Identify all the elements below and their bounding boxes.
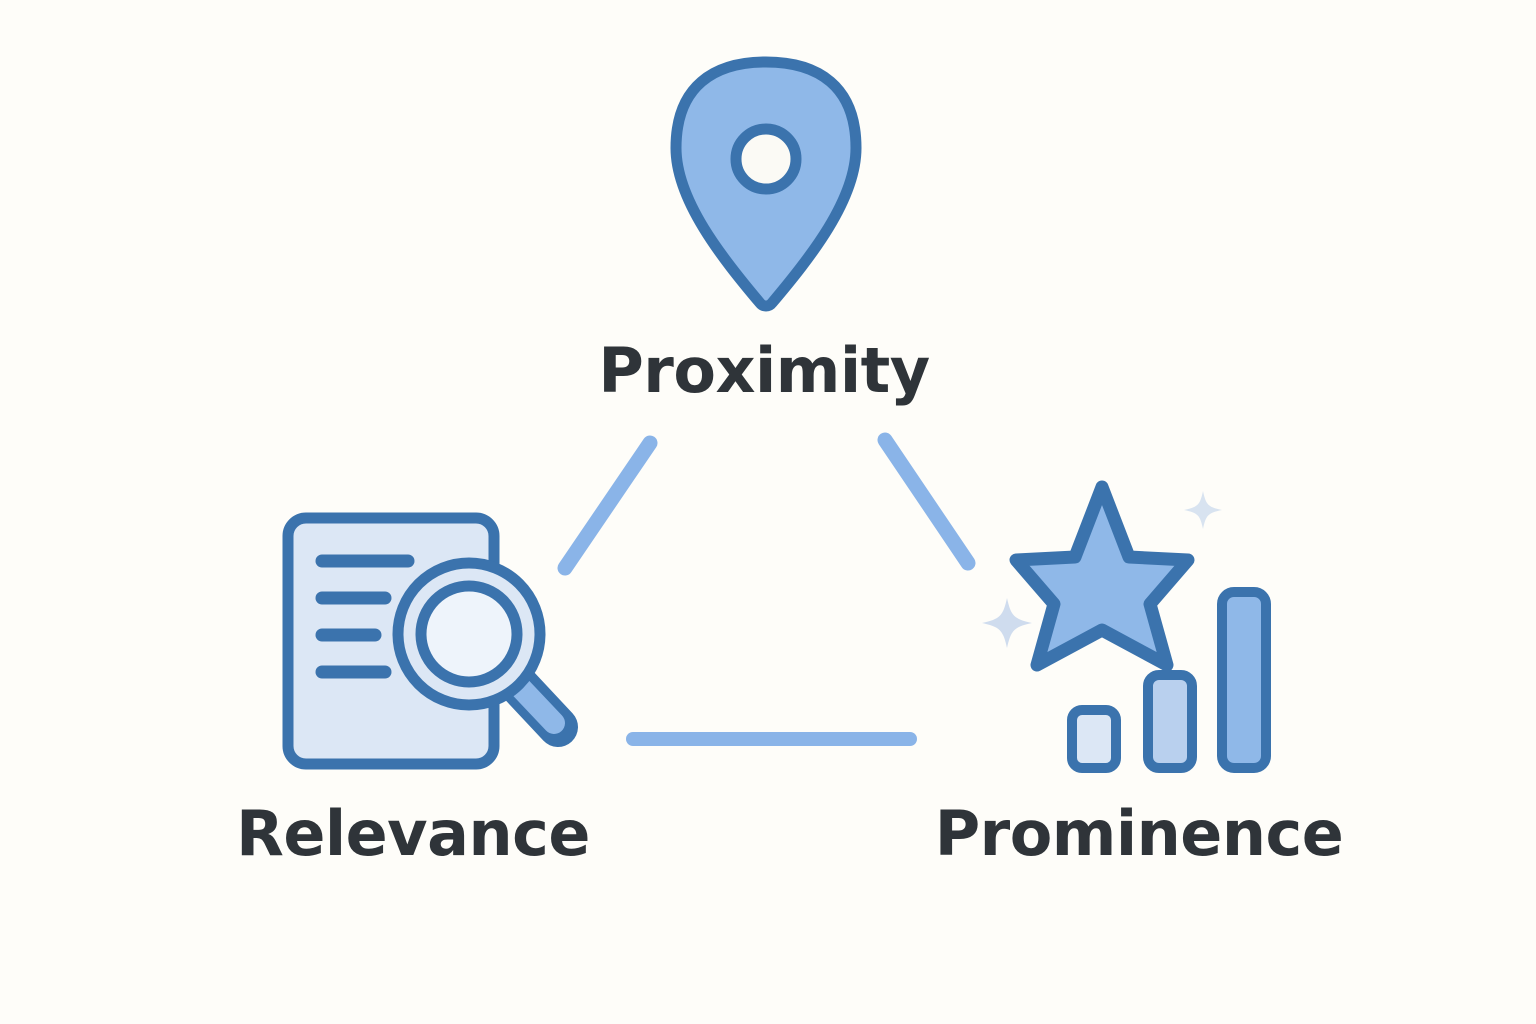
bar-chart-bar-2 bbox=[1148, 675, 1192, 768]
concept-diagram: Proximity Relevance bbox=[0, 0, 1536, 1024]
connector-group bbox=[565, 440, 968, 739]
connector-proximity-prominence bbox=[885, 440, 968, 563]
bar-chart-bar-3 bbox=[1222, 592, 1266, 768]
document-search-icon bbox=[288, 518, 558, 764]
connector-relevance-proximity bbox=[565, 443, 650, 568]
node-label-proximity: Proximity bbox=[598, 334, 929, 407]
map-pin-icon bbox=[676, 62, 856, 306]
star-icon bbox=[1016, 487, 1188, 665]
node-label-relevance: Relevance bbox=[236, 797, 590, 870]
map-pin-inner-circle bbox=[736, 129, 796, 189]
diagram-canvas: Proximity Relevance bbox=[0, 0, 1536, 1024]
sparkle-icon-left bbox=[982, 598, 1032, 648]
sparkle-icon-right bbox=[1184, 491, 1222, 529]
star-bar-chart-icon bbox=[982, 487, 1266, 768]
bar-chart-bar-1 bbox=[1072, 710, 1116, 768]
node-label-prominence: Prominence bbox=[935, 797, 1344, 870]
magnifier-lens-inner bbox=[421, 586, 517, 682]
